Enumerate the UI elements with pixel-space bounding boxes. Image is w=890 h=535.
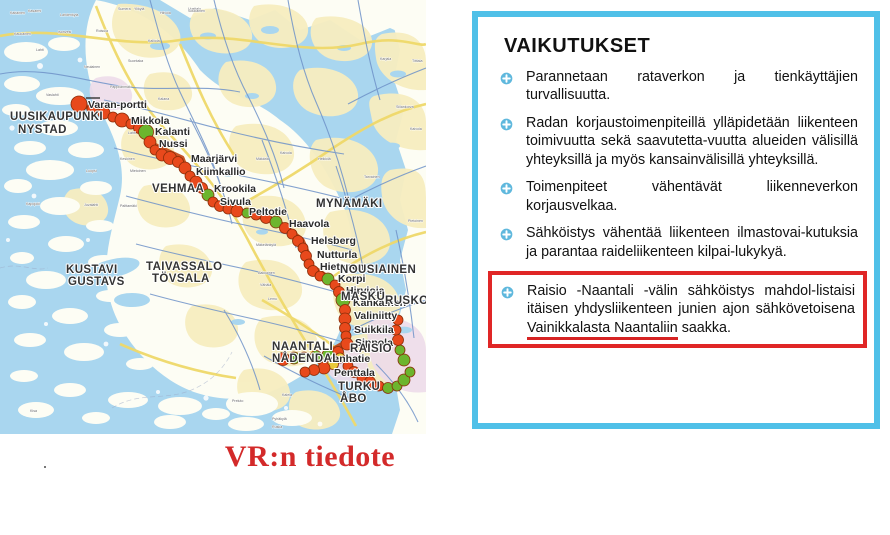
map-city-label: GUSTAVS (68, 276, 125, 288)
map-station-label: Maarjärvi (191, 153, 237, 165)
map-minor-label: Kaivola (410, 127, 422, 131)
map-minor-label: Ylikylä (134, 7, 144, 11)
map-minor-label: Vähäla (260, 283, 271, 287)
map-city-label: RAISIO (350, 343, 392, 355)
map-panel[interactable]: KaitainenKasarmiLahdenkylaSumeraHiivolaY… (0, 0, 426, 434)
map-minor-label: Kaitainen (10, 11, 25, 15)
plus-circle-icon (500, 228, 513, 241)
map-station-label: Varan-portti (88, 99, 147, 111)
map-minor-label: Kasarmi (28, 9, 41, 13)
map-minor-label: Kalana (158, 97, 169, 101)
map-minor-label: Mäkärlä (256, 157, 269, 161)
map-station-label: Suikkila (354, 324, 394, 336)
map-minor-label: Neulainen (84, 65, 100, 69)
map-minor-label: Pietoinen (408, 219, 423, 223)
map-minor-label: Tiittala (412, 59, 422, 63)
map-station-label: Kiimkallio (196, 166, 246, 178)
plus-circle-icon (501, 286, 514, 299)
map-minor-label: Mäkelänkylä (256, 243, 276, 247)
map-minor-label: Keskinen (120, 157, 135, 161)
map-station-label: Nutturla (317, 249, 357, 261)
map-minor-label: Kapojoki (26, 202, 40, 206)
map-station-label: Krookila (214, 183, 256, 195)
map-minor-label: Kaivola (280, 151, 292, 155)
map-city-label: ÅBO (340, 392, 367, 405)
map-minor-label: Mietoinen (130, 169, 146, 173)
bullet-text: Sähköistys vähentää liikenteen ilmastova… (526, 224, 858, 261)
map-city-label: NOUSIAINEN (340, 264, 416, 276)
map-minor-label: Lahti (128, 131, 136, 135)
map-minor-label: Sumera (118, 7, 131, 11)
map-minor-label: Kaukainen (14, 32, 31, 36)
plus-circle-icon (500, 182, 513, 195)
underlined-route-text: Vainikkalasta Naantaliin (527, 320, 678, 340)
map-minor-label: Tarvainen (364, 175, 380, 179)
map-city-label: NAANTALI (272, 341, 333, 353)
map-city-label: KUSTAVI (66, 264, 118, 276)
highlighted-bullet-item: Raisio -Naantali -välin sähköistys mahdo… (488, 271, 867, 348)
map-minor-label: Lahti (36, 48, 44, 52)
map-minor-label: Soukainen (188, 9, 205, 13)
map-city-label: VEHMAA (152, 183, 204, 195)
bullet-item: Sähköistys vähentää liikenteen ilmastova… (500, 224, 858, 261)
highlight-text-after: saakka. (678, 320, 731, 336)
map-station-label: Peltotie (249, 206, 287, 218)
map-minor-label: Aakkainen (258, 271, 275, 275)
map-station-label: Valiniitty (354, 310, 397, 322)
map-minor-label: Luopsi (86, 169, 97, 173)
map-station-label: Nussi (159, 138, 188, 150)
map-city-label: MASKU (341, 291, 385, 303)
map-city-label: RUSKO (385, 295, 426, 307)
map-city-label: TÖVSALA (152, 272, 210, 285)
map-minor-label: Juvalahti (84, 203, 98, 207)
map-city-label: MYNÄMÄKI (316, 197, 382, 210)
map-minor-label: Palttamäki (120, 204, 137, 208)
bullet-text: Parannetaan rataverkon ja tienkäyttäjien… (526, 68, 858, 105)
stray-dot (44, 466, 46, 468)
highlighted-bullet-text: Raisio -Naantali -välin sähköistys mahdo… (527, 282, 855, 337)
info-box-title: VAIKUTUKSET (504, 35, 858, 58)
map-minor-label: Vaslahti (46, 93, 59, 97)
plus-circle-icon (500, 118, 513, 131)
map-station-label: Kalanti (155, 126, 190, 138)
map-minor-label: Karjala (380, 57, 391, 61)
bullet-item: Radan korjaustoimenpiteillä ylläpidetään… (500, 114, 858, 169)
map-minor-label: Kalela (282, 393, 292, 397)
plus-circle-icon (500, 72, 513, 85)
map-minor-label: Kisa (30, 409, 37, 413)
map-city-label: NÅDENDAL (272, 352, 340, 365)
bullet-item: Toimenpiteet vähentävät liikenneverkon k… (500, 178, 858, 215)
map-minor-label: Lemu (268, 297, 277, 301)
map-image: KaitainenKasarmiLahdenkylaSumeraHiivolaY… (0, 0, 426, 434)
impacts-info-box: VAIKUTUKSET Parannetaan rataverkon ja ti… (472, 11, 880, 429)
map-station-label: Sivula (220, 196, 251, 208)
bullet-text: Radan korjaustoimenpiteillä ylläpidetään… (526, 114, 858, 169)
map-minor-label: Pappilanmäki (110, 85, 132, 89)
map-city-label: UUSIKAUPUNKI (10, 111, 103, 123)
map-minor-label: Lahdenkyla (60, 13, 78, 17)
map-minor-label: Roisula (96, 29, 108, 33)
map-minor-label: Sillankorva (396, 105, 414, 109)
map-station-label: Helsberg (311, 235, 356, 247)
highlight-text-before: Raisio -Naantali -välin sähköistys mahdo… (527, 283, 855, 317)
map-minor-label: Ruska (272, 425, 282, 429)
map-minor-label: Heikkilä (318, 157, 331, 161)
map-minor-label: Isonvesi (58, 30, 71, 34)
map-city-label: NYSTAD (18, 124, 67, 136)
map-minor-label: Suontaka (128, 59, 143, 63)
map-minor-label: Kalliola (148, 39, 160, 43)
map-city-label: TURKU (338, 381, 380, 393)
map-city-label: TAIVASSALO (146, 261, 222, 273)
bullet-text: Toimenpiteet vähentävät liikenneverkon k… (526, 178, 858, 215)
map-minor-label: Hiivola (160, 11, 171, 15)
map-minor-label: Preluto (232, 399, 243, 403)
caption-vr-tiedote: VR:n tiedote (0, 440, 620, 474)
bullet-item: Parannetaan rataverkon ja tienkäyttäjien… (500, 68, 858, 105)
map-station-label: Penttala (334, 367, 375, 379)
map-minor-label: Pyhäkylä (272, 417, 287, 421)
map-station-label: Haavola (289, 218, 329, 230)
